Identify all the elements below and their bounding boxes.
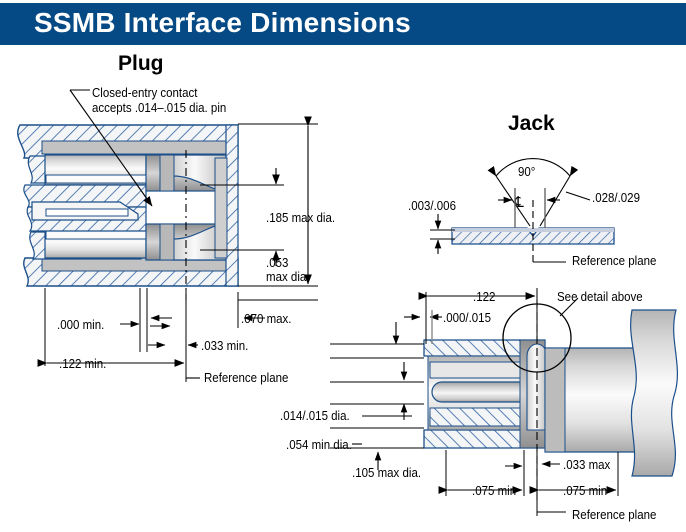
plug-cross-section bbox=[15, 124, 242, 300]
jack-left-dimensions bbox=[330, 322, 424, 470]
plug-horizontal-dimensions bbox=[45, 288, 318, 382]
plug-max-dia-dimension bbox=[238, 124, 318, 286]
jack-bottom-dimensions bbox=[446, 450, 618, 516]
jack-cross-section bbox=[424, 298, 677, 500]
diagram-page: SSMB Interface Dimensions Plug Jack Clos… bbox=[0, 0, 686, 532]
jack-top-dimensions bbox=[404, 288, 537, 344]
technical-drawing-svg bbox=[0, 0, 686, 532]
